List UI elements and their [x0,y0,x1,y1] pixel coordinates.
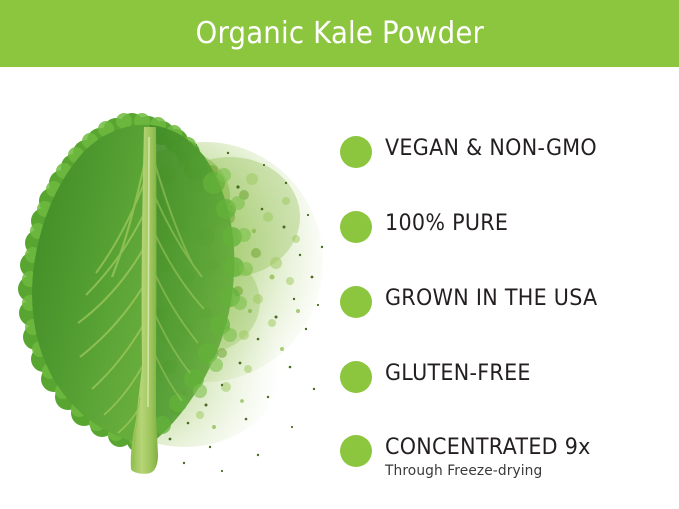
feature-item: CONCENTRATED 9x Through Freeze-drying [340,434,679,481]
kale-leaf-powder-illustration [0,67,340,509]
feature-text: VEGAN & NON-GMO [385,135,610,162]
feature-label: GLUTEN-FREE [385,361,531,387]
feature-label: 100% PURE [385,211,508,237]
bullet-dot-icon [340,136,372,168]
feature-text: 100% PURE [385,210,516,237]
feature-item: GROWN IN THE USA [340,285,679,318]
feature-text: GROWN IN THE USA [385,285,611,312]
feature-item: VEGAN & NON-GMO [340,135,679,168]
feature-item: 100% PURE [340,210,679,243]
bullet-dot-icon [340,286,372,318]
feature-subtitle: Through Freeze-drying [385,462,593,481]
feature-label: CONCENTRATED 9x [385,435,591,461]
feature-text: GLUTEN-FREE [385,360,540,387]
feature-item: GLUTEN-FREE [340,360,679,393]
product-infographic: Organic Kale Powder [0,0,679,509]
header-bar: Organic Kale Powder [0,0,679,67]
kale-artwork-svg [0,67,340,509]
bullet-dot-icon [340,435,372,467]
feature-list: VEGAN & NON-GMO 100% PURE GROWN IN THE U… [340,67,679,509]
bullet-dot-icon [340,361,372,393]
bullet-dot-icon [340,211,372,243]
feature-label: VEGAN & NON-GMO [385,136,597,162]
page-title: Organic Kale Powder [195,16,484,51]
feature-label: GROWN IN THE USA [385,286,597,312]
feature-text: CONCENTRATED 9x Through Freeze-drying [385,434,604,481]
